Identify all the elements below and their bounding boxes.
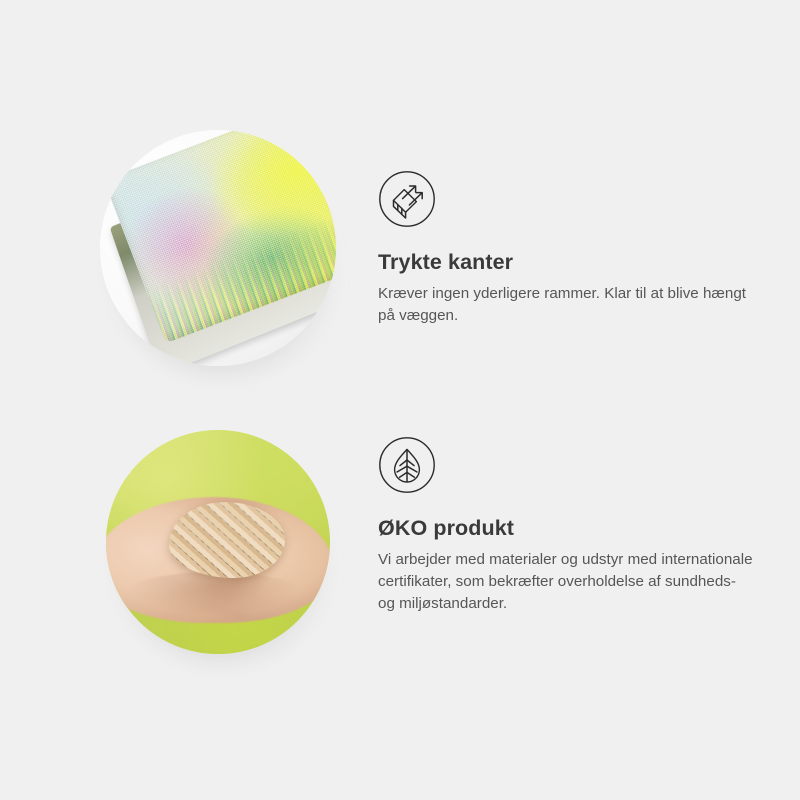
feature-text-eco-product: ØKO produkt Vi arbejder med materialer o… (378, 436, 770, 615)
leaf-icon (378, 436, 436, 494)
feature-description: Vi arbejder med materialer og udstyr med… (378, 549, 753, 615)
feature-text-printed-edges: Trykte kanter Kræver ingen yderligere ra… (378, 170, 770, 327)
product-features-panel: Trykte kanter Kræver ingen yderligere ra… (0, 0, 800, 800)
feature-heading: ØKO produkt (378, 516, 770, 542)
wood-chips-pile (169, 502, 285, 578)
wood-chips-photo-content (106, 430, 330, 654)
printed-edges-icon (378, 170, 436, 228)
feature-block-eco-product: ØKO produkt Vi arbejder med materialer o… (0, 412, 800, 662)
media-circle-mask (100, 130, 336, 366)
feature-block-printed-edges: Trykte kanter Kræver ingen yderligere ra… (0, 120, 800, 390)
canvas-edge-photo (100, 130, 336, 366)
media-circle-mask (106, 430, 330, 654)
canvas-edge-photo-content (100, 130, 336, 366)
wood-chips-photo (106, 430, 330, 654)
feature-description: Kræver ingen yderligere rammer. Klar til… (378, 283, 753, 327)
feature-heading: Trykte kanter (378, 250, 770, 276)
